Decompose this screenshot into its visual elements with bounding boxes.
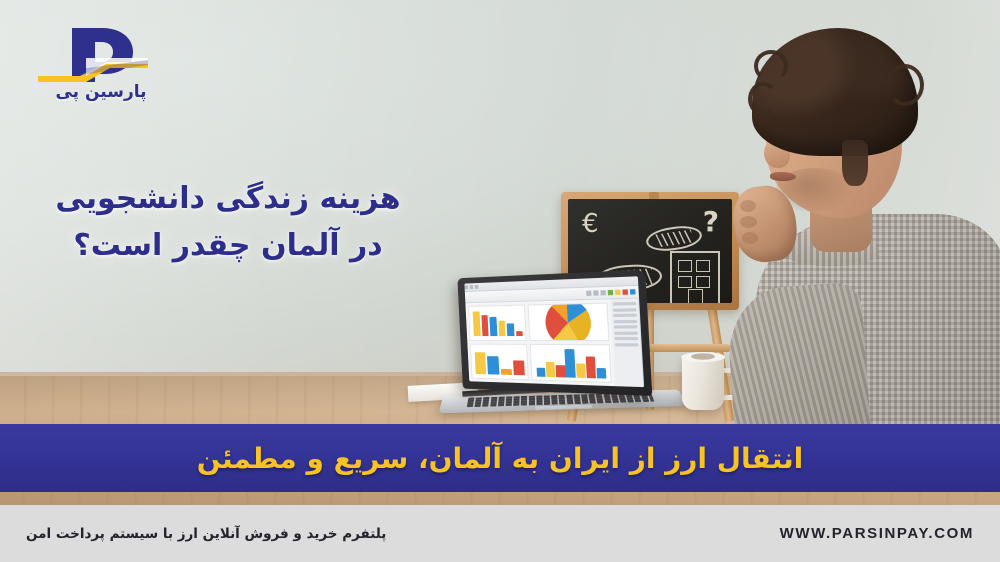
bar <box>501 369 512 375</box>
sidebar-row <box>614 319 638 322</box>
headline-line-1: هزینه زندگی دانشجویی <box>28 176 428 221</box>
toolbar-icon <box>600 290 605 295</box>
minimize-icon <box>475 285 479 289</box>
thoughtful-young-man <box>690 0 1000 440</box>
toolbar-icon <box>593 290 598 295</box>
area-col <box>536 368 545 377</box>
bread-slashes <box>655 230 692 248</box>
footer-tagline: پلتفرم خرید و فروش آنلاین ارز با سیستم پ… <box>26 526 386 542</box>
sidebar-row <box>614 325 638 328</box>
bar-chart <box>473 309 524 336</box>
laptop-lid <box>457 270 652 396</box>
dashboard-body <box>465 299 644 388</box>
page-title: هزینه زندگی دانشجویی در آلمان چقدر است؟ <box>28 176 428 268</box>
raised-arm <box>725 281 871 440</box>
bar-chart-card-bottom <box>470 344 529 381</box>
toolbar-icon <box>615 290 621 295</box>
area-col <box>576 364 586 378</box>
lips <box>770 172 796 181</box>
bar <box>516 331 523 336</box>
logo-wordmark: پارسین پی <box>36 82 166 102</box>
maximize-icon <box>470 285 474 289</box>
bar-chart <box>474 348 525 375</box>
sideburn <box>842 140 868 186</box>
website-url[interactable]: WWW.PARSINPAY.COM <box>780 525 974 542</box>
close-icon <box>464 285 468 289</box>
bar <box>473 312 481 337</box>
pie-chart <box>544 303 592 342</box>
footer-bar: WWW.PARSINPAY.COM پلتفرم خرید و فروش آنل… <box>0 505 1000 562</box>
sidebar-row <box>613 302 637 306</box>
pie-chart-card <box>528 303 609 342</box>
knuckle <box>740 216 757 228</box>
headline-line-2: در آلمان چقدر است؟ <box>28 223 428 268</box>
knuckle <box>742 232 758 244</box>
area-col <box>565 349 576 377</box>
bar <box>475 352 487 374</box>
hair-curl <box>748 82 778 116</box>
toolbar-icon <box>608 290 614 295</box>
sidebar-row <box>613 308 637 312</box>
toolbar-icon <box>622 289 628 294</box>
bar <box>490 317 498 336</box>
laptop-trackpad <box>534 404 593 410</box>
toolbar-icon <box>586 291 591 296</box>
area-col <box>556 366 566 378</box>
sidebar-row <box>615 343 639 346</box>
area-col <box>585 357 596 379</box>
toolbar-icon <box>630 289 636 294</box>
bar-chart-card-top <box>468 305 527 341</box>
bar <box>498 320 506 336</box>
dashboard-sidebar <box>610 299 644 388</box>
area-chart-card <box>530 344 612 383</box>
promo-poster: € ? <box>0 0 1000 562</box>
hair-curl <box>886 64 924 106</box>
laptop-with-dashboard <box>438 274 688 414</box>
area-col <box>596 368 606 378</box>
bar <box>507 324 515 336</box>
area-col <box>546 362 556 377</box>
sidebar-row <box>614 337 638 340</box>
laptop-screen <box>464 276 644 387</box>
bar <box>513 360 525 375</box>
area-chart <box>534 348 607 379</box>
promo-banner: انتقال ارز از ایران به آلمان، سریع و مطم… <box>0 424 1000 492</box>
parsinpay-logo[interactable]: پارسین پی <box>36 26 166 104</box>
sidebar-row <box>614 331 638 334</box>
sidebar-row <box>613 314 637 318</box>
dashboard-charts <box>465 299 615 386</box>
promo-banner-text: انتقال ارز از ایران به آلمان، سریع و مطم… <box>197 442 804 475</box>
hair-curl <box>754 50 788 82</box>
bar <box>481 315 489 336</box>
bar <box>487 356 499 375</box>
knuckle <box>740 200 756 212</box>
euro-sign-icon: € <box>582 211 599 237</box>
